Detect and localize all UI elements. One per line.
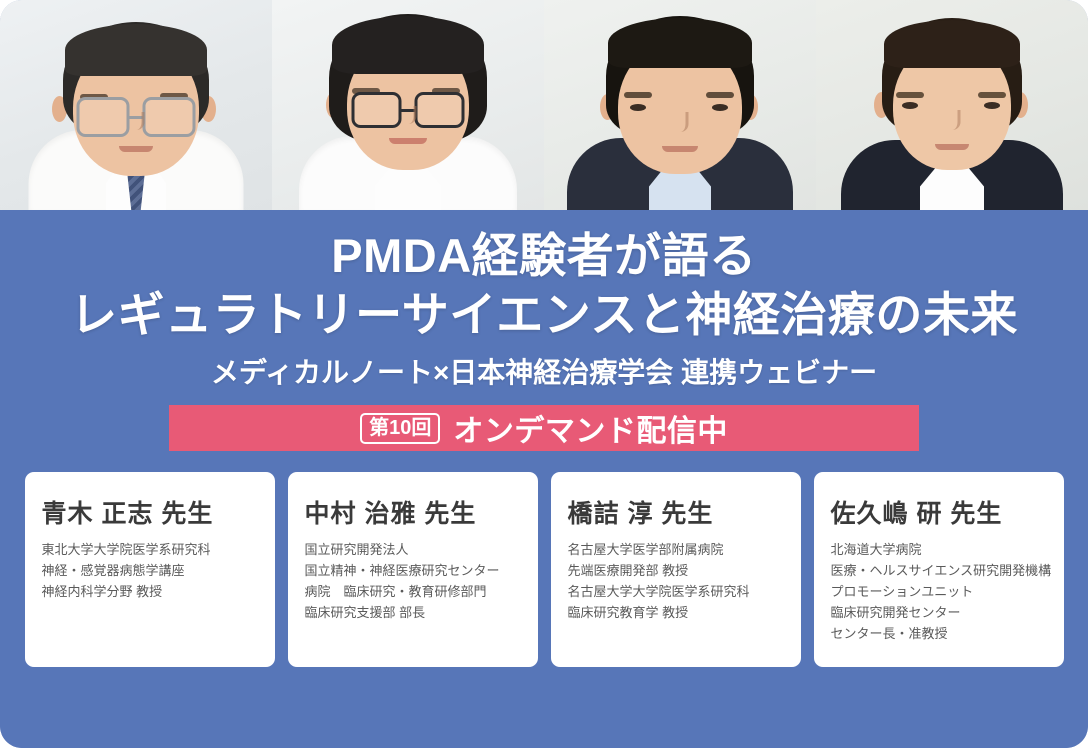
affiliation-line: 先端医療開発部 教授 bbox=[568, 560, 801, 581]
affiliation-line: 北海道大学病院 bbox=[831, 539, 1064, 560]
speaker-affiliation: 東北大学大学院医学系研究科 神経・感覚器病態学講座 神経内科学分野 教授 bbox=[42, 539, 275, 602]
speaker-name: 中村 治雅 先生 bbox=[305, 494, 538, 530]
affiliation-line: 臨床研究支援部 部長 bbox=[305, 602, 538, 623]
affiliation-line: 臨床研究教育学 教授 bbox=[568, 602, 801, 623]
speaker-photo-sakushima bbox=[816, 0, 1088, 210]
banner-title-line-2: レギュラトリーサイエンスと神経治療の未来 bbox=[0, 289, 1088, 342]
status-badge-row: 第10回 オンデマンド配信中 bbox=[0, 405, 1088, 451]
speaker-name: 青木 正志 先生 bbox=[42, 494, 275, 530]
affiliation-line: 臨床研究開発センター bbox=[831, 602, 1064, 623]
affiliation-line: 東北大学大学院医学系研究科 bbox=[42, 539, 275, 560]
affiliation-line: 神経・感覚器病態学講座 bbox=[42, 560, 275, 581]
speaker-card: 中村 治雅 先生 国立研究開発法人 国立精神・神経医療研究センター 病院 臨床研… bbox=[288, 472, 538, 667]
affiliation-line: 神経内科学分野 教授 bbox=[42, 581, 275, 602]
affiliation-line: センター長・准教授 bbox=[831, 623, 1064, 644]
speaker-card: 橋詰 淳 先生 名古屋大学医学部附属病院 先端医療開発部 教授 名古屋大学大学院… bbox=[551, 472, 801, 667]
banner-heading-group: PMDA経験者が語る レギュラトリーサイエンスと神経治療の未来 メディカルノート… bbox=[0, 210, 1088, 391]
status-badge: 第10回 オンデマンド配信中 bbox=[169, 405, 919, 451]
speaker-affiliation: 国立研究開発法人 国立精神・神経医療研究センター 病院 臨床研究・教育研修部門 … bbox=[305, 539, 538, 623]
affiliation-line: 国立精神・神経医療研究センター bbox=[305, 560, 538, 581]
affiliation-line: 名古屋大学医学部附属病院 bbox=[568, 539, 801, 560]
speaker-affiliation: 名古屋大学医学部附属病院 先端医療開発部 教授 名古屋大学大学院医学系研究科 臨… bbox=[568, 539, 801, 623]
speaker-photo-nakamura bbox=[272, 0, 544, 210]
speaker-photo-hashizume bbox=[544, 0, 816, 210]
speaker-card-list: 青木 正志 先生 東北大学大学院医学系研究科 神経・感覚器病態学講座 神経内科学… bbox=[0, 472, 1088, 667]
webinar-banner: PMDA経験者が語る レギュラトリーサイエンスと神経治療の未来 メディカルノート… bbox=[0, 0, 1088, 748]
badge-status-text: オンデマンド配信中 bbox=[453, 406, 728, 450]
affiliation-line: 名古屋大学大学院医学系研究科 bbox=[568, 581, 801, 602]
speaker-name: 橋詰 淳 先生 bbox=[568, 494, 801, 530]
banner-subtitle: メディカルノート×日本神経治療学会 連携ウェビナー bbox=[0, 351, 1088, 391]
affiliation-line: 病院 臨床研究・教育研修部門 bbox=[305, 581, 538, 602]
speaker-photo-strip bbox=[0, 0, 1088, 210]
speaker-card: 佐久嶋 研 先生 北海道大学病院 医療・ヘルスサイエンス研究開発機構 プロモーシ… bbox=[814, 472, 1064, 667]
speaker-name: 佐久嶋 研 先生 bbox=[831, 494, 1064, 530]
banner-title-line-1: PMDA経験者が語る bbox=[0, 230, 1088, 283]
speaker-photo-aoki bbox=[0, 0, 272, 210]
affiliation-line: 国立研究開発法人 bbox=[305, 539, 538, 560]
banner-main-panel: PMDA経験者が語る レギュラトリーサイエンスと神経治療の未来 メディカルノート… bbox=[0, 210, 1088, 748]
badge-episode-number: 第10回 bbox=[360, 413, 440, 444]
affiliation-line: プロモーションユニット bbox=[831, 581, 1064, 602]
speaker-card: 青木 正志 先生 東北大学大学院医学系研究科 神経・感覚器病態学講座 神経内科学… bbox=[25, 472, 275, 667]
affiliation-line: 医療・ヘルスサイエンス研究開発機構 bbox=[831, 560, 1064, 581]
speaker-affiliation: 北海道大学病院 医療・ヘルスサイエンス研究開発機構 プロモーションユニット 臨床… bbox=[831, 539, 1064, 644]
